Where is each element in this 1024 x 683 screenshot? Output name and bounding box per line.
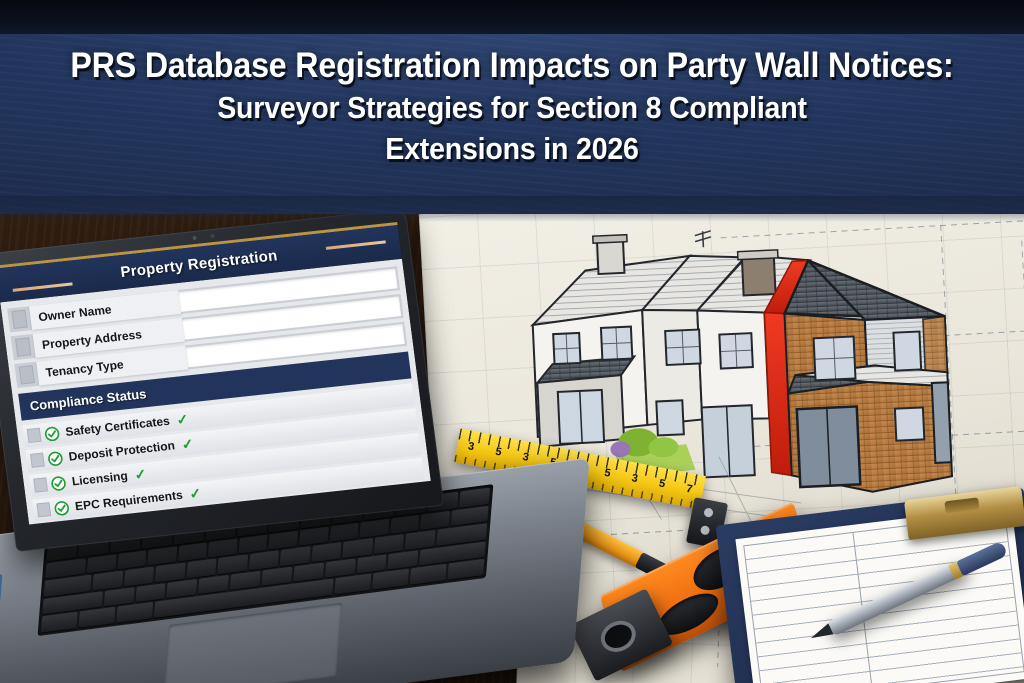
title-banner: PRS Database Registration Impacts on Par… [0,34,1024,214]
accent-line-right [326,240,386,249]
banner-fade-edge [0,196,1024,222]
compliance-label: Safety Certificates [65,414,171,439]
row-marker [11,310,27,329]
tick-icon: ✓ [176,412,189,427]
check-circle-icon [53,500,70,516]
row-marker [33,477,48,492]
tick-icon: ✓ [189,486,202,501]
level-end-hole [596,615,642,658]
top-dark-strip [0,0,1024,36]
check-circle-icon [47,450,64,466]
laptop-ports [0,574,2,662]
check-circle-icon [44,425,61,441]
poster-canvas: 3 5 3 5 3 5 3 5 7 [0,0,1024,683]
form-body: Owner Name Property Address Tenancy Type… [0,259,431,525]
row-marker [15,337,31,356]
compliance-label: Licensing [71,469,129,489]
webcam-icon [192,236,196,240]
laptop: Property Registration Owner Name Propert… [0,212,598,683]
laptop-screen: Property Registration Owner Name Propert… [0,222,431,524]
title-line-2: Surveyor Strategies for Section 8 Compli… [41,91,983,126]
clipboard-paper [735,505,1024,683]
laptop-lid: Property Registration Owner Name Propert… [0,208,444,552]
compliance-label: EPC Requirements [74,488,183,514]
tick-icon: ✓ [181,436,194,451]
title-line-3: Extensions in 2026 [41,132,983,167]
accent-line-left [13,282,73,291]
title-line-1: PRS Database Registration Impacts on Par… [41,46,983,85]
row-marker [27,428,42,443]
row-marker [36,502,51,517]
tick-icon: ✓ [134,467,147,482]
row-marker [19,365,35,384]
row-marker [30,453,45,468]
page-title: PRS Database Registration Impacts on Par… [0,34,1024,167]
check-circle-icon [50,475,67,491]
